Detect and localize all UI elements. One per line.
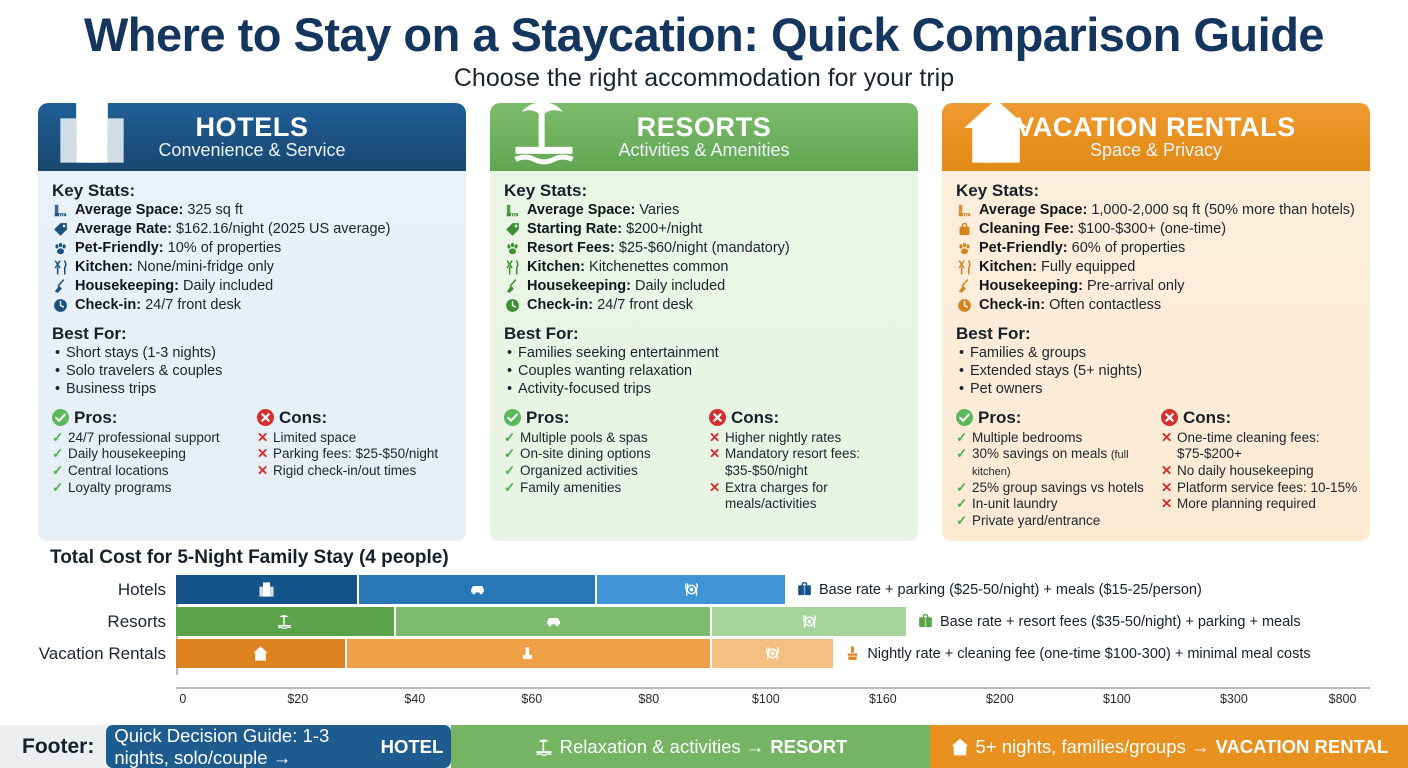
con-text: Higher nightly rates <box>725 430 841 447</box>
footer-segment-green[interactable]: Relaxation & activities → RESORT <box>451 725 929 768</box>
con-text: Rigid check-in/out times <box>273 463 416 480</box>
check-icon: ✓ <box>504 446 517 463</box>
con-item: ✕Extra charges for meals/activities <box>709 480 906 513</box>
clock-icon <box>504 297 524 314</box>
pros-heading: Pros: <box>526 408 569 428</box>
key-stats-heading: Key Stats: <box>504 181 906 201</box>
best-for-heading: Best For: <box>956 324 1358 344</box>
key-stats-heading: Key Stats: <box>52 181 454 201</box>
stat-value: Daily included <box>635 278 725 294</box>
pro-item: ✓Multiple bedrooms <box>956 430 1153 447</box>
axis-tick: $160 <box>869 692 897 706</box>
stat-value: $162.16/night (2025 US average) <box>176 221 390 237</box>
check-circle-icon <box>52 409 69 426</box>
palm-pool-icon <box>534 737 554 757</box>
chart-row-vacation-rentals: Vacation RentalsNightly rate + cleaning … <box>24 639 1370 668</box>
pro-item: ✓In-unit laundry <box>956 496 1153 513</box>
pro-item: ✓Multiple pools & spas <box>504 430 701 447</box>
stat-key: Kitchen: <box>979 259 1037 275</box>
con-text: No daily housekeeping <box>1177 463 1314 480</box>
pros-heading: Pros: <box>978 408 1021 428</box>
stat-value: 325 sq ft <box>187 202 243 218</box>
pros-column: Pros:✓24/7 professional support✓Daily ho… <box>52 408 249 496</box>
stat-value: Fully equipped <box>1041 259 1135 275</box>
con-item: ✕Higher nightly rates <box>709 430 906 447</box>
suitcase-icon <box>796 580 814 600</box>
bar-segment <box>347 639 710 668</box>
card-title: HOTELS <box>195 112 308 142</box>
cross-icon: ✕ <box>257 463 270 480</box>
pro-item: ✓24/7 professional support <box>52 430 249 447</box>
check-icon: ✓ <box>52 480 65 497</box>
axis-tick: $80 <box>638 692 659 706</box>
page-title: Where to Stay on a Staycation: Quick Com… <box>0 8 1408 62</box>
chart-category-label: Resorts <box>24 612 176 632</box>
best-for-item: Solo travelers & couples <box>52 363 454 381</box>
chart-row-hotels: HotelsBase rate + parking ($25-50/night)… <box>24 575 1370 604</box>
axis-tick: $200 <box>986 692 1014 706</box>
comparison-cards: HOTELSConvenience & ServiceKey Stats:Ave… <box>0 93 1408 541</box>
cross-icon: ✕ <box>1161 496 1174 513</box>
stat-value: 10% of properties <box>168 240 282 256</box>
con-text: Extra charges for meals/activities <box>725 480 906 513</box>
stat-key: Average Space: <box>979 202 1087 218</box>
cross-icon: ✕ <box>1161 463 1174 480</box>
stat-value: Kitchenettes common <box>589 259 728 275</box>
pros-cons-block: Pros:✓24/7 professional support✓Daily ho… <box>52 408 454 496</box>
check-icon: ✓ <box>956 496 969 513</box>
ruler-icon <box>504 202 524 219</box>
paw-icon <box>52 240 72 257</box>
best-for-item: Extended stays (5+ nights) <box>956 363 1358 381</box>
pro-text: 30% savings on meals (full kitchen) <box>972 446 1153 479</box>
chart-title: Total Cost for 5-Night Family Stay (4 pe… <box>50 547 1370 569</box>
stat-key: Average Rate: <box>75 221 172 237</box>
pro-text: Multiple pools & spas <box>520 430 648 447</box>
con-item: ✕No daily housekeeping <box>1161 463 1358 480</box>
stat-row: Check-in: 24/7 front desk <box>52 297 454 315</box>
cross-circle-icon <box>257 409 274 426</box>
best-for-block: Best For:Families seeking entertainmentC… <box>504 324 906 399</box>
con-item: ✕Platform service fees: 10-15% <box>1161 480 1358 497</box>
cutlery-icon <box>52 259 72 276</box>
con-item: ✕One-time cleaning fees: $75-$200+ <box>1161 430 1358 463</box>
stat-key: Housekeeping: <box>979 278 1083 294</box>
axis-tick: $60 <box>521 692 542 706</box>
con-text: Platform service fees: 10-15% <box>1177 480 1357 497</box>
chart-legend-text: Nightly rate + cleaning fee (one-time $1… <box>867 646 1310 662</box>
stat-row: Pet-Friendly: 60% of properties <box>956 240 1358 258</box>
con-text: One-time cleaning fees: $75-$200+ <box>1177 430 1358 463</box>
stat-value: 24/7 front desk <box>597 297 693 313</box>
tag-icon <box>504 221 524 238</box>
stat-value: $200+/night <box>626 221 702 237</box>
card-title: VACATION RENTALS <box>1016 112 1296 142</box>
stat-key: Housekeeping: <box>527 278 631 294</box>
stat-key: Starting Rate: <box>527 221 622 237</box>
cross-icon: ✕ <box>257 446 270 463</box>
cross-icon: ✕ <box>257 430 270 447</box>
bar-segment <box>597 575 785 604</box>
footer-segment-text: Quick Decision Guide: 1-3 nights, solo/c… <box>114 725 374 768</box>
card-body-vacation-rentals: Key Stats:Average Space: 1,000-2,000 sq … <box>942 171 1370 541</box>
pro-text: In-unit laundry <box>972 496 1058 513</box>
stat-row: Average Space: 325 sq ft <box>52 202 454 220</box>
pro-text: 25% group savings vs hotels <box>972 480 1144 497</box>
stat-key: Check-in: <box>527 297 593 313</box>
check-icon: ✓ <box>504 430 517 447</box>
stat-row: Housekeeping: Pre-arrival only <box>956 278 1358 296</box>
pro-text: On-site dining options <box>520 446 651 463</box>
best-for-item: Couples wanting relaxation <box>504 363 906 381</box>
footer-segment-bold: RESORT <box>770 736 847 758</box>
stat-key: Average Space: <box>527 202 635 218</box>
ruler-icon <box>52 202 72 219</box>
footer-segment-blue[interactable]: Quick Decision Guide: 1-3 nights, solo/c… <box>106 725 451 768</box>
stat-row: Starting Rate: $200+/night <box>504 221 906 239</box>
stat-row: Average Space: 1,000-2,000 sq ft (50% mo… <box>956 202 1358 220</box>
broom-icon <box>52 278 72 295</box>
page-subtitle: Choose the right accommodation for your … <box>0 64 1408 93</box>
house-icon <box>950 737 970 757</box>
cross-circle-icon <box>1161 409 1178 426</box>
cross-icon: ✕ <box>1161 480 1174 497</box>
stat-value: $25-$60/night (mandatory) <box>619 240 790 256</box>
suitcase-icon <box>917 612 935 632</box>
check-icon: ✓ <box>956 430 969 447</box>
bag-icon <box>956 221 976 238</box>
stat-key: Housekeeping: <box>75 278 179 294</box>
pro-text: Daily housekeeping <box>68 446 186 463</box>
con-item: ✕More planning required <box>1161 496 1358 513</box>
cons-column: Cons:✕Higher nightly rates✕Mandatory res… <box>709 408 906 513</box>
infographic-page: Where to Stay on a Staycation: Quick Com… <box>0 0 1408 768</box>
con-text: Limited space <box>273 430 356 447</box>
cross-icon: ✕ <box>1161 430 1174 447</box>
axis-tick: $100 <box>752 692 780 706</box>
card-resorts: RESORTSActivities & AmenitiesKey Stats:A… <box>490 103 918 541</box>
pro-text: Multiple bedrooms <box>972 430 1082 447</box>
cons-column: Cons:✕One-time cleaning fees: $75-$200+✕… <box>1161 408 1358 530</box>
stat-value: Often contactless <box>1049 297 1161 313</box>
stat-value: $100-$300+ (one-time) <box>1078 221 1226 237</box>
con-text: Parking fees: $25-$50/night <box>273 446 438 463</box>
clock-icon <box>52 297 72 314</box>
check-icon: ✓ <box>956 480 969 497</box>
axis-tick: $40 <box>404 692 425 706</box>
footer: Footer: Quick Decision Guide: 1-3 nights… <box>0 725 1408 768</box>
best-for-item: Families & groups <box>956 345 1358 363</box>
stat-row: Housekeeping: Daily included <box>52 278 454 296</box>
best-for-item: Short stays (1-3 nights) <box>52 345 454 363</box>
pros-cons-block: Pros:✓Multiple pools & spas✓On-site dini… <box>504 408 906 513</box>
cross-icon: ✕ <box>709 430 722 447</box>
pro-item: ✓On-site dining options <box>504 446 701 463</box>
house-icon <box>958 103 1034 173</box>
best-for-item: Business trips <box>52 381 454 399</box>
chart-x-axis: 0$20$40$60$80$100$160$200$100$300$800 <box>176 687 1370 713</box>
stat-value: Pre-arrival only <box>1087 278 1185 294</box>
pro-item: ✓Daily housekeeping <box>52 446 249 463</box>
stat-row: Resort Fees: $25-$60/night (mandatory) <box>504 240 906 258</box>
palm-pool-icon <box>506 103 582 173</box>
paw-icon <box>504 240 524 257</box>
pro-text: 24/7 professional support <box>68 430 220 447</box>
broom-icon <box>956 278 976 295</box>
stat-key: Check-in: <box>979 297 1045 313</box>
stat-value: Varies <box>639 202 679 218</box>
check-circle-icon <box>956 409 973 426</box>
pro-item: ✓25% group savings vs hotels <box>956 480 1153 497</box>
stat-row: Check-in: Often contactless <box>956 297 1358 315</box>
bar-segment <box>359 575 595 604</box>
footer-segment-text: Relaxation & activities → <box>560 736 765 758</box>
clock-icon <box>956 297 976 314</box>
con-item: ✕Mandatory resort fees: $35-$50/night <box>709 446 906 479</box>
key-stats-heading: Key Stats: <box>956 181 1358 201</box>
pros-column: Pros:✓Multiple pools & spas✓On-site dini… <box>504 408 701 513</box>
footer-segment-orange[interactable]: 5+ nights, families/groups → VACATION RE… <box>930 725 1408 768</box>
best-for-heading: Best For: <box>504 324 906 344</box>
check-icon: ✓ <box>956 446 969 463</box>
stat-row: Kitchen: Kitchenettes common <box>504 259 906 277</box>
footer-segment-bold: HOTEL <box>381 736 444 758</box>
stat-row: Housekeeping: Daily included <box>504 278 906 296</box>
pro-item: ✓30% savings on meals (full kitchen) <box>956 446 1153 479</box>
check-circle-icon <box>504 409 521 426</box>
pro-item: ✓Loyalty programs <box>52 480 249 497</box>
pro-item: ✓Family amenities <box>504 480 701 497</box>
stat-value: 1,000-2,000 sq ft (50% more than hotels) <box>1091 202 1355 218</box>
pro-item: ✓Private yard/entrance <box>956 513 1153 530</box>
chart-legend-item: Base rate + parking ($25-50/night) + mea… <box>796 575 1202 604</box>
chart-legend-item: Base rate + resort fees ($35-50/night) +… <box>917 607 1301 636</box>
best-for-heading: Best For: <box>52 324 454 344</box>
chart-body: HotelsBase rate + parking ($25-50/night)… <box>24 575 1370 687</box>
bar-segment <box>176 607 394 636</box>
cleaning-icon <box>844 644 862 664</box>
axis-tick: $300 <box>1220 692 1248 706</box>
chart-legend-text: Base rate + resort fees ($35-50/night) +… <box>940 614 1301 630</box>
bar-segment <box>712 639 833 668</box>
pro-item: ✓Central locations <box>52 463 249 480</box>
pro-text: Private yard/entrance <box>972 513 1100 530</box>
check-icon: ✓ <box>52 463 65 480</box>
cons-heading: Cons: <box>1183 408 1231 428</box>
card-body-resorts: Key Stats:Average Space: VariesStarting … <box>490 171 918 541</box>
card-header-vacation-rentals: VACATION RENTALSSpace & Privacy <box>942 103 1370 171</box>
chart-row-resorts: ResortsBase rate + resort fees ($35-50/n… <box>24 607 1370 636</box>
paw-icon <box>956 240 976 257</box>
cross-icon: ✕ <box>709 480 722 497</box>
pro-text: Organized activities <box>520 463 638 480</box>
best-for-item: Activity-focused trips <box>504 381 906 399</box>
pros-column: Pros:✓Multiple bedrooms✓30% savings on m… <box>956 408 1153 530</box>
stat-row: Average Space: Varies <box>504 202 906 220</box>
cons-heading: Cons: <box>731 408 779 428</box>
check-icon: ✓ <box>504 463 517 480</box>
card-title: RESORTS <box>637 112 772 142</box>
pro-text: Central locations <box>68 463 169 480</box>
stat-key: Average Space: <box>75 202 183 218</box>
stat-key: Pet-Friendly: <box>979 240 1068 256</box>
best-for-block: Best For:Short stays (1-3 nights)Solo tr… <box>52 324 454 399</box>
con-text: More planning required <box>1177 496 1316 513</box>
best-for-item: Families seeking entertainment <box>504 345 906 363</box>
pro-text: Loyalty programs <box>68 480 172 497</box>
pro-text: Family amenities <box>520 480 621 497</box>
card-body-hotels: Key Stats:Average Space: 325 sq ftAverag… <box>38 171 466 541</box>
footer-segment-bold: VACATION RENTAL <box>1215 736 1388 758</box>
stat-key: Check-in: <box>75 297 141 313</box>
bar-segment <box>396 607 711 636</box>
con-item: ✕Limited space <box>257 430 454 447</box>
building-icon <box>54 103 130 173</box>
stat-row: Pet-Friendly: 10% of properties <box>52 240 454 258</box>
stat-key: Kitchen: <box>75 259 133 275</box>
stat-value: Daily included <box>183 278 273 294</box>
stat-row: Cleaning Fee: $100-$300+ (one-time) <box>956 221 1358 239</box>
ruler-icon <box>956 202 976 219</box>
broom-icon <box>504 278 524 295</box>
chart-category-label: Vacation Rentals <box>24 644 176 664</box>
best-for-item: Pet owners <box>956 381 1358 399</box>
card-subtitle: Convenience & Service <box>158 140 345 160</box>
axis-tick: 0 <box>179 692 186 706</box>
stat-row: Average Rate: $162.16/night (2025 US ave… <box>52 221 454 239</box>
card-header-resorts: RESORTSActivities & Amenities <box>490 103 918 171</box>
cutlery-icon <box>956 259 976 276</box>
cons-heading: Cons: <box>279 408 327 428</box>
axis-tick: $800 <box>1329 692 1357 706</box>
stat-key: Kitchen: <box>527 259 585 275</box>
card-subtitle: Space & Privacy <box>1090 140 1222 160</box>
stat-value: None/mini-fridge only <box>137 259 274 275</box>
bar-segment <box>176 575 357 604</box>
cross-icon: ✕ <box>709 446 722 463</box>
cutlery-icon <box>504 259 524 276</box>
check-icon: ✓ <box>52 430 65 447</box>
bar-segment <box>176 639 345 668</box>
cross-circle-icon <box>709 409 726 426</box>
stat-value: 24/7 front desk <box>145 297 241 313</box>
axis-tick: $100 <box>1103 692 1131 706</box>
pros-cons-block: Pros:✓Multiple bedrooms✓30% savings on m… <box>956 408 1358 530</box>
chart-legend-text: Base rate + parking ($25-50/night) + mea… <box>819 582 1202 598</box>
con-item: ✕Rigid check-in/out times <box>257 463 454 480</box>
footer-label: Footer: <box>0 735 106 759</box>
pros-heading: Pros: <box>74 408 117 428</box>
check-icon: ✓ <box>504 480 517 497</box>
chart-bars: Base rate + parking ($25-50/night) + mea… <box>176 575 1370 604</box>
chart-legend-item: Nightly rate + cleaning fee (one-time $1… <box>844 639 1310 668</box>
cons-column: Cons:✕Limited space✕Parking fees: $25-$5… <box>257 408 454 496</box>
chart-bars: Base rate + resort fees ($35-50/night) +… <box>176 607 1370 636</box>
cost-chart-section: Total Cost for 5-Night Family Stay (4 pe… <box>0 541 1408 713</box>
check-icon: ✓ <box>52 446 65 463</box>
header: Where to Stay on a Staycation: Quick Com… <box>0 0 1408 93</box>
axis-tick: $20 <box>287 692 308 706</box>
stat-value: 60% of properties <box>1072 240 1186 256</box>
bar-segment <box>712 607 906 636</box>
pro-item: ✓Organized activities <box>504 463 701 480</box>
card-header-hotels: HOTELSConvenience & Service <box>38 103 466 171</box>
con-item: ✕Parking fees: $25-$50/night <box>257 446 454 463</box>
con-text: Mandatory resort fees: $35-$50/night <box>725 446 906 479</box>
check-icon: ✓ <box>956 513 969 530</box>
stat-key: Cleaning Fee: <box>979 221 1074 237</box>
stat-key: Pet-Friendly: <box>75 240 164 256</box>
stat-row: Check-in: 24/7 front desk <box>504 297 906 315</box>
card-hotels: HOTELSConvenience & ServiceKey Stats:Ave… <box>38 103 466 541</box>
stat-key: Resort Fees: <box>527 240 615 256</box>
card-vacation-rentals: VACATION RENTALSSpace & PrivacyKey Stats… <box>942 103 1370 541</box>
footer-segment-text: 5+ nights, families/groups → <box>976 736 1210 758</box>
chart-bars: Nightly rate + cleaning fee (one-time $1… <box>176 639 1370 668</box>
best-for-block: Best For:Families & groupsExtended stays… <box>956 324 1358 399</box>
tag-icon <box>52 221 72 238</box>
chart-category-label: Hotels <box>24 580 176 600</box>
stat-row: Kitchen: None/mini-fridge only <box>52 259 454 277</box>
stat-row: Kitchen: Fully equipped <box>956 259 1358 277</box>
card-subtitle: Activities & Amenities <box>618 140 789 160</box>
